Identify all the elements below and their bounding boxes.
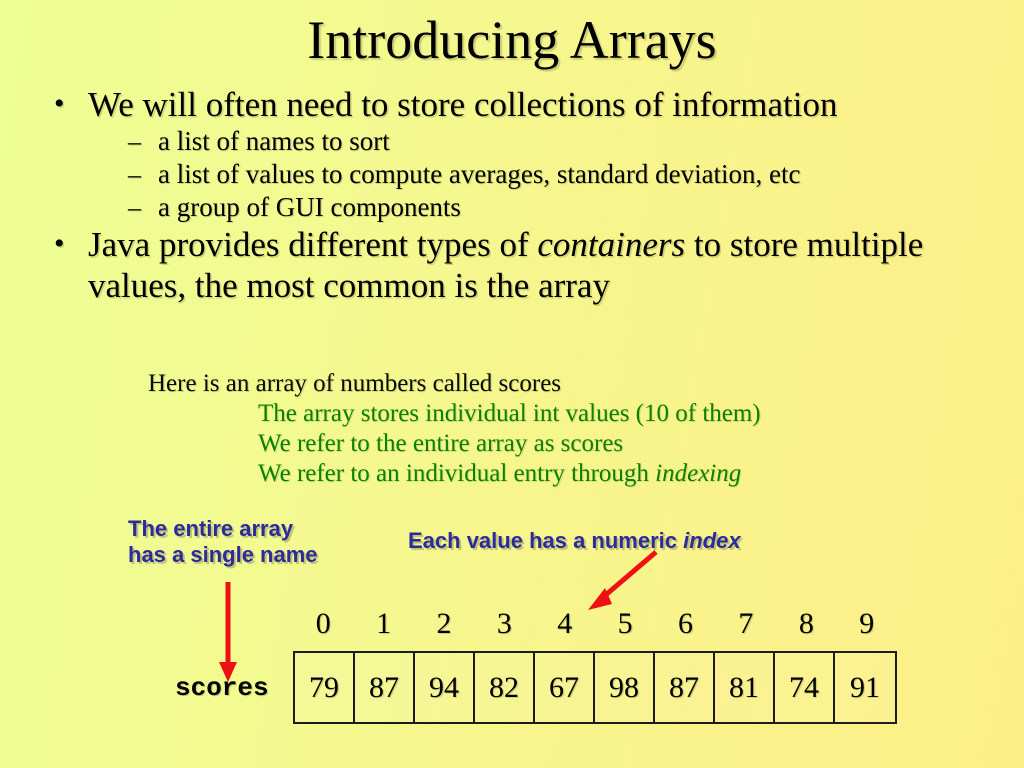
array-index: 8 bbox=[776, 606, 836, 642]
page-title: Introducing Arrays bbox=[0, 10, 1024, 70]
array-cell: 87 bbox=[655, 653, 715, 722]
array-cells: 79 87 94 82 67 98 87 81 74 91 bbox=[293, 651, 897, 724]
callout-numeric-index-emphasis: index bbox=[683, 528, 740, 553]
bullet-marker-dash: – bbox=[128, 158, 141, 191]
array-index: 1 bbox=[353, 606, 413, 642]
array-index-row: 0 1 2 3 4 5 6 7 8 9 bbox=[293, 606, 897, 642]
array-cell: 79 bbox=[295, 653, 355, 722]
narrative-detail-3-emphasis: indexing bbox=[655, 460, 741, 487]
bullet-item-3: – a list of values to compute averages, … bbox=[40, 158, 1000, 191]
arrow-down-icon bbox=[196, 576, 266, 688]
bullet-marker-dot: • bbox=[54, 223, 65, 264]
array-cell: 87 bbox=[355, 653, 415, 722]
narrative-headline: Here is an array of numbers called score… bbox=[40, 368, 1000, 399]
array-cell: 82 bbox=[475, 653, 535, 722]
array-index: 5 bbox=[595, 606, 655, 642]
array-cell: 94 bbox=[415, 653, 475, 722]
callout-entire-array: The entire array has a single name bbox=[128, 516, 318, 568]
array-index: 6 bbox=[655, 606, 715, 642]
array-index: 0 bbox=[293, 606, 353, 642]
narrative-detail-2: We refer to the entire array as scores bbox=[40, 429, 1000, 459]
narrative-detail-3: We refer to an individual entry through … bbox=[40, 459, 1000, 489]
bullet-item-2: – a list of names to sort bbox=[40, 125, 1000, 158]
bullet-item-4: – a group of GUI components bbox=[40, 191, 1000, 224]
bullet-list: • We will often need to store collection… bbox=[40, 84, 1000, 306]
array-index: 9 bbox=[837, 606, 897, 642]
bullet-text: We will often need to store collections … bbox=[88, 85, 837, 124]
array-name-label: scores bbox=[175, 673, 269, 703]
array-cell: 81 bbox=[715, 653, 775, 722]
bullet-marker-dash: – bbox=[128, 191, 141, 224]
array-cell: 98 bbox=[595, 653, 655, 722]
narrative-detail-1: The array stores individual int values (… bbox=[40, 399, 1000, 429]
bullet-marker-dash: – bbox=[128, 125, 141, 158]
bullet-text: a list of values to compute averages, st… bbox=[158, 159, 801, 189]
narrative-detail-3-text: We refer to an individual entry through bbox=[258, 460, 655, 487]
array-cell: 74 bbox=[775, 653, 835, 722]
bullet-text-emphasis: containers bbox=[537, 225, 685, 264]
bullet-item-1: • We will often need to store collection… bbox=[40, 84, 1000, 125]
bullet-text-part1: Java provides different types of bbox=[88, 225, 537, 264]
array-index: 3 bbox=[474, 606, 534, 642]
array-index: 7 bbox=[716, 606, 776, 642]
slide-canvas: Introducing Arrays • We will often need … bbox=[0, 0, 1024, 768]
narrative-block: Here is an array of numbers called score… bbox=[40, 368, 1000, 489]
array-cell: 91 bbox=[835, 653, 895, 722]
array-index: 2 bbox=[414, 606, 474, 642]
array-cell: 67 bbox=[535, 653, 595, 722]
array-index: 4 bbox=[535, 606, 595, 642]
bullet-marker-dot: • bbox=[54, 83, 65, 124]
bullet-text: a group of GUI components bbox=[158, 192, 461, 222]
bullet-text: a list of names to sort bbox=[158, 126, 390, 156]
bullet-item-5: • Java provides different types of conta… bbox=[40, 224, 1000, 306]
